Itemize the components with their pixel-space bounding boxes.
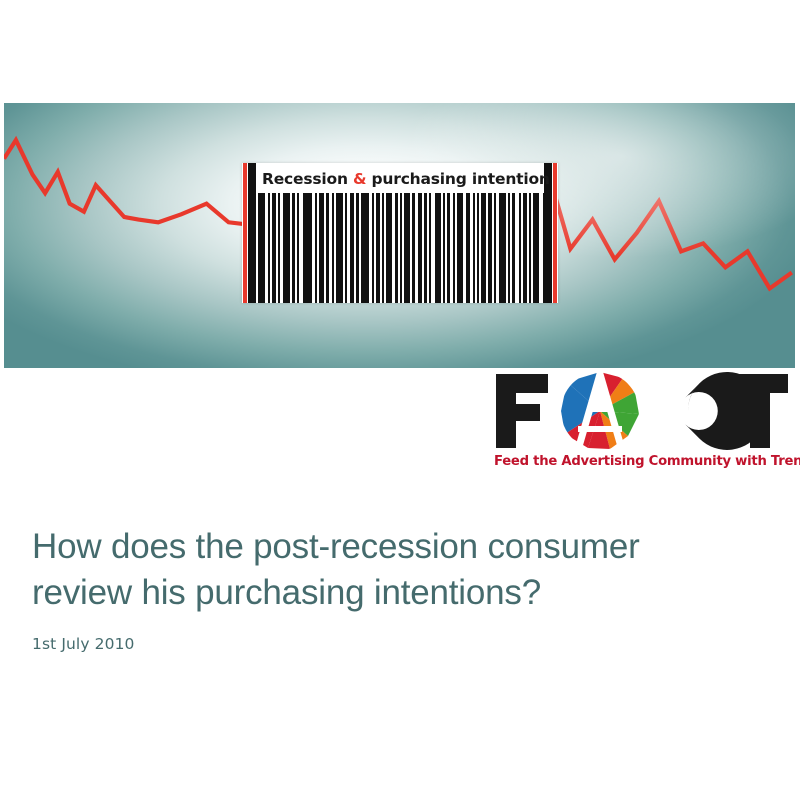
barcode-title-prefix: Recession (262, 170, 353, 188)
page-title-line-2: review his purchasing intentions? (32, 570, 752, 616)
barcode-title: Recession & purchasing intention (262, 170, 534, 188)
barcode-red-edge-left (243, 163, 247, 303)
fact-logo-tagline: Feed the Advertising Community with Tren… (494, 454, 792, 469)
barcode-red-edge-right (553, 163, 557, 303)
barcode-bar (499, 193, 506, 303)
fact-wordmark (492, 368, 792, 454)
page-title-line-1: How does the post-recession consumer (32, 524, 752, 570)
slide-canvas: Recession & purchasing intention (0, 0, 800, 800)
page-title: How does the post-recession consumer rev… (32, 524, 752, 615)
barcode-bars (248, 193, 552, 303)
fact-logo: Feed the Advertising Community with Tren… (492, 368, 792, 480)
logo-letter-a (561, 372, 639, 450)
barcode-bar (303, 193, 311, 303)
presentation-date: 1st July 2010 (32, 635, 752, 653)
barcode-title-ampersand: & (353, 170, 366, 188)
logo-letter-f (496, 374, 548, 448)
barcode-bar (361, 193, 368, 303)
barcode-guard-left (248, 163, 256, 303)
title-block: How does the post-recession consumer rev… (32, 524, 752, 653)
barcode-title-suffix: purchasing intention (366, 170, 549, 188)
barcode-graphic: Recession & purchasing intention (242, 163, 558, 303)
